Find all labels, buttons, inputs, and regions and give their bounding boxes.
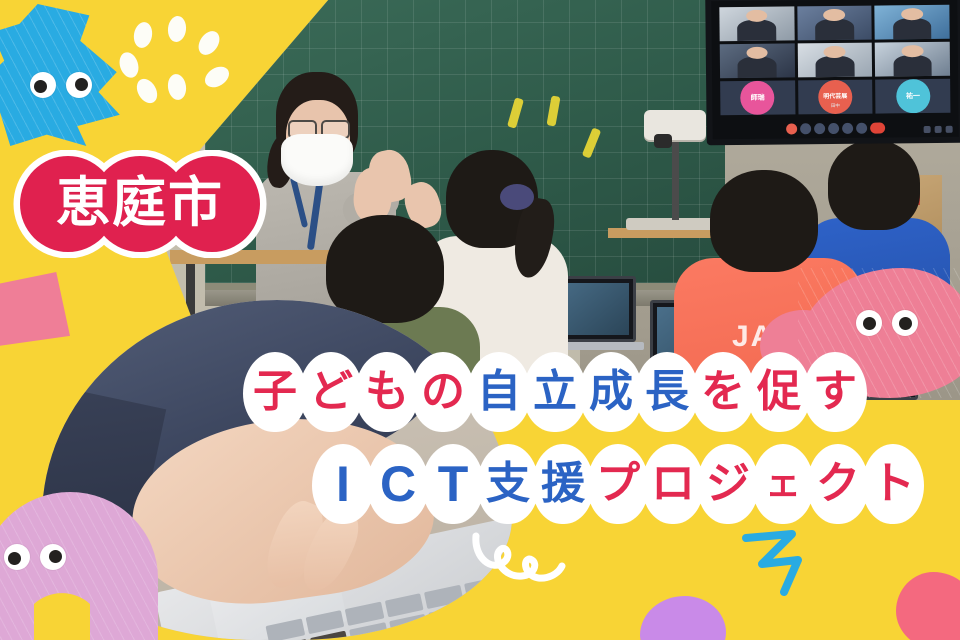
headline-line-2: I C T 支 援 プ ロ ジ ェ ク ト: [312, 444, 917, 524]
headline-char: ジ: [697, 444, 759, 524]
video-tile: [797, 43, 872, 78]
signal-icon: [935, 126, 942, 133]
headline-line-1: 子 ど も の 自 立 成 長 を 促 す: [243, 352, 859, 432]
leave-meeting-icon[interactable]: [870, 122, 885, 133]
sparkle-dot: [116, 50, 141, 80]
student-head: [710, 170, 818, 272]
sparkle-dot: [132, 21, 154, 50]
headline-char: を: [691, 352, 755, 432]
camera-icon[interactable]: [800, 123, 811, 134]
settings-icon: [924, 126, 931, 133]
headline-char: プ: [587, 444, 649, 524]
headline-char: T: [422, 444, 484, 524]
monitor-status-icons: [924, 126, 953, 133]
video-tile: [720, 43, 795, 78]
headline-char: 促: [747, 352, 811, 432]
face-mask: [281, 134, 353, 186]
video-tile: [719, 6, 794, 41]
eniwa-city-badge: 恵庭市: [6, 150, 274, 258]
blob-eyes: [856, 310, 918, 336]
white-sparkle-dots: [120, 16, 230, 111]
video-tile-avatar: 師瑞: [720, 80, 795, 115]
promotional-banner: JAPAN 師瑞 明代芸展 田中 祐一: [0, 0, 960, 640]
headline-char: 子: [243, 352, 307, 432]
headline-block: 子 ど も の 自 立 成 長 を 促 す I C T 支 援 プ ロ ジ ェ …: [0, 352, 960, 562]
chalk-dash: [507, 97, 524, 128]
sparkle-dot: [194, 27, 223, 59]
participant-avatar: 師瑞: [740, 81, 774, 115]
share-screen-icon[interactable]: [814, 123, 825, 134]
chalk-dash: [546, 95, 560, 126]
chat-icon[interactable]: [842, 123, 853, 134]
blob-eyes: [30, 72, 92, 98]
headline-char: 援: [532, 444, 594, 524]
headline-char: 支: [477, 444, 539, 524]
headline-char: C: [367, 444, 429, 524]
headline-char: I: [312, 444, 374, 524]
headline-char: 自: [467, 352, 531, 432]
sparkle-dot: [133, 75, 162, 107]
headline-char: す: [803, 352, 867, 432]
headline-char: の: [411, 352, 475, 432]
sparkle-dot: [166, 73, 187, 101]
headline-char: ク: [807, 444, 869, 524]
headline-char: 長: [635, 352, 699, 432]
meeting-toolbar[interactable]: [786, 122, 885, 134]
sparkle-dot: [167, 15, 188, 43]
video-tile-avatar: 祐一: [875, 79, 950, 114]
mic-icon[interactable]: [786, 123, 797, 134]
video-tile-avatar: 明代芸展 田中: [798, 80, 873, 115]
sparkle-dot: [201, 62, 233, 91]
display-icon: [946, 126, 953, 133]
participant-avatar: 明代芸展: [818, 80, 852, 114]
badge-text: 恵庭市: [6, 150, 274, 258]
headline-char: 立: [523, 352, 587, 432]
headline-char: ロ: [642, 444, 704, 524]
video-tile: [875, 5, 950, 40]
hair-scrunchie: [500, 184, 534, 210]
headline-char: ェ: [752, 444, 814, 524]
eye-icon: [892, 310, 918, 336]
video-tile: [875, 42, 950, 77]
participant-avatar: 祐一: [896, 79, 930, 113]
more-options-icon[interactable]: [856, 123, 867, 134]
participants-icon[interactable]: [828, 123, 839, 134]
headline-char: も: [355, 352, 419, 432]
eye-icon: [856, 310, 882, 336]
video-tile: [797, 6, 872, 41]
camera-lens-icon: [654, 134, 672, 148]
headline-char: ど: [299, 352, 363, 432]
headline-char: 成: [579, 352, 643, 432]
video-conference-monitor: 師瑞 明代芸展 田中 祐一: [705, 0, 960, 145]
headline-char: ト: [862, 444, 924, 524]
participant-name: 田中: [831, 103, 840, 109]
eye-icon: [30, 72, 56, 98]
chalk-dash: [582, 127, 602, 158]
eye-icon: [66, 72, 92, 98]
video-tile-grid: 師瑞 明代芸展 田中 祐一: [719, 5, 950, 115]
